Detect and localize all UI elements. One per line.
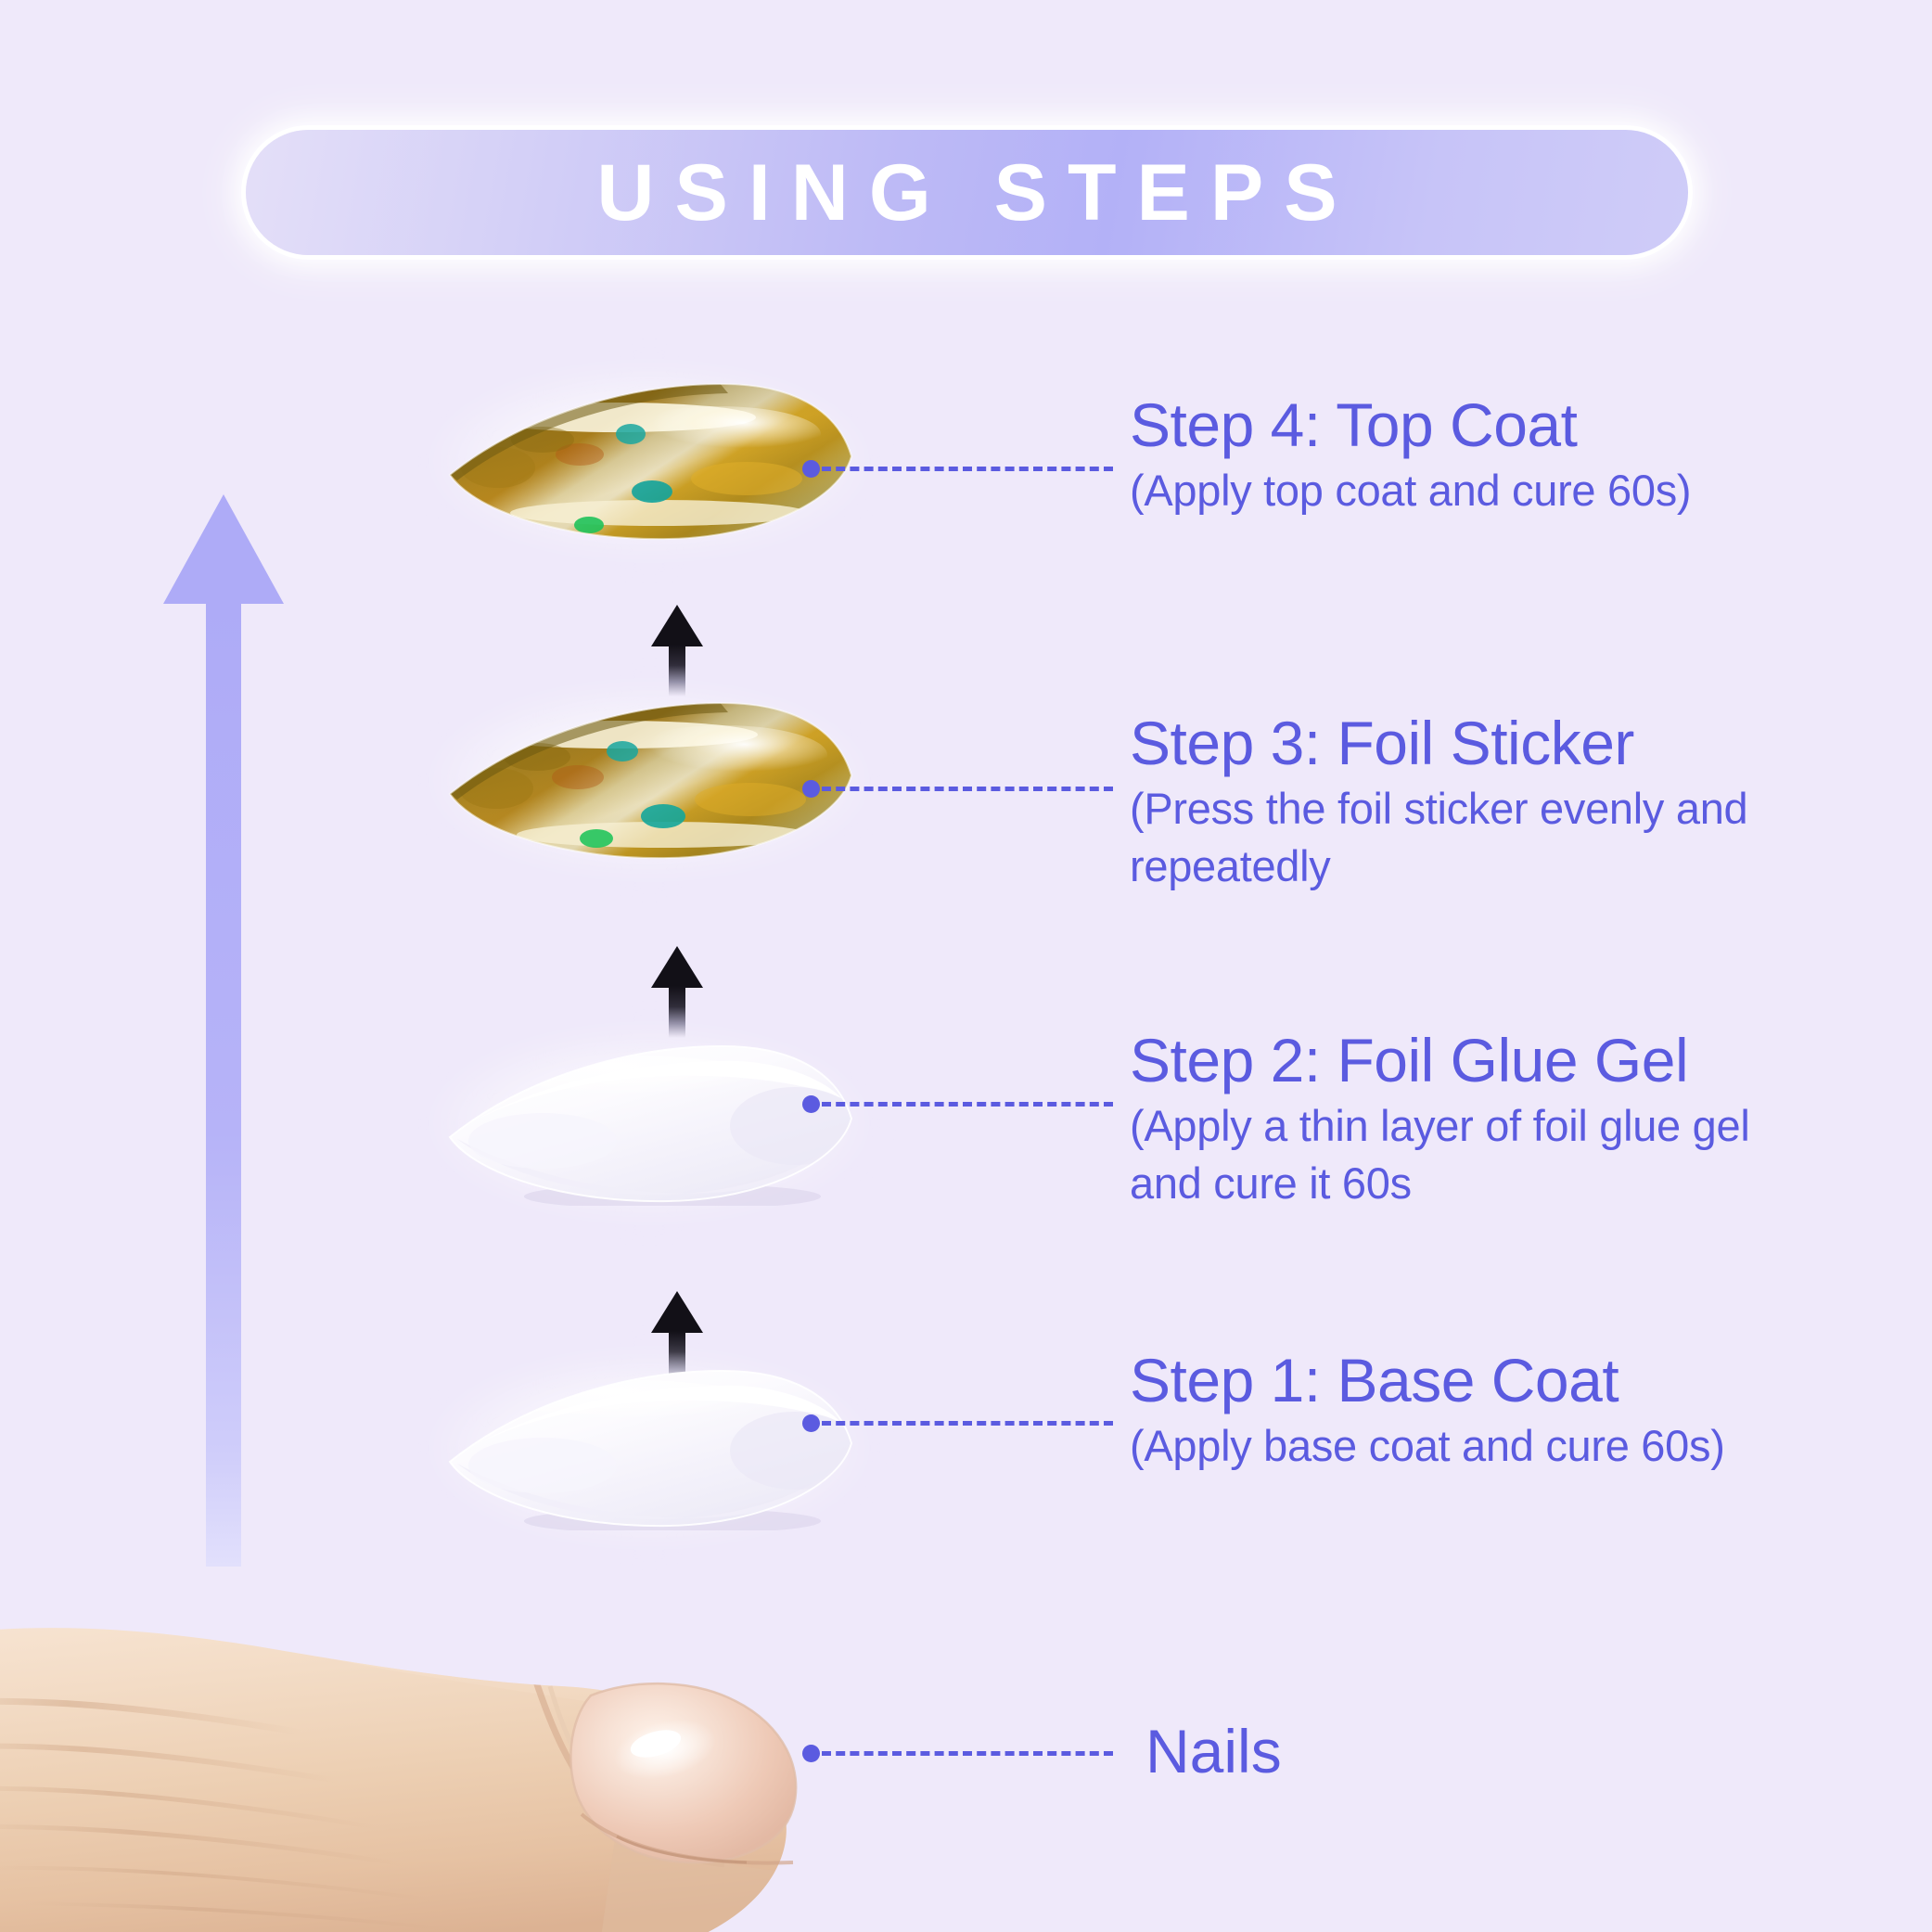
up-arrow-shaft — [206, 602, 241, 1567]
step-3-description-line-1: (Press the foil sticker evenly and — [1130, 781, 1835, 837]
leader-line-step-1 — [802, 1416, 1113, 1429]
gold-foil-nail-icon — [441, 697, 858, 863]
leader-dot-icon — [802, 1095, 820, 1113]
leader-dash — [822, 1421, 1113, 1426]
leader-dash — [822, 1102, 1113, 1107]
step-4-title: Step 4: Top Coat — [1130, 394, 1872, 455]
process-arrow-head — [651, 1291, 703, 1333]
step-block-3: Step 3: Foil Sticker (Press the foil sti… — [1130, 712, 1835, 894]
step-3-title: Step 3: Foil Sticker — [1130, 712, 1835, 774]
leader-dot-icon — [802, 1745, 820, 1762]
nail-visual-step-2 — [441, 1041, 858, 1206]
step-2-description-line-2: and cure it 60s — [1130, 1156, 1835, 1211]
step-block-2: Step 2: Foil Glue Gel (Apply a thin laye… — [1130, 1030, 1835, 1211]
up-arrow-head — [163, 494, 284, 604]
leader-dot-icon — [802, 460, 820, 478]
clear-gel-nail-icon — [441, 1365, 858, 1530]
nails-label: Nails — [1145, 1721, 1282, 1782]
up-arrow-icon — [163, 494, 284, 1566]
finger-photo — [0, 1593, 858, 1932]
step-block-1: Step 1: Base Coat (Apply base coat and c… — [1130, 1350, 1872, 1474]
step-2-description-line-1: (Apply a thin layer of foil glue gel — [1130, 1098, 1835, 1154]
process-arrow-head — [651, 946, 703, 988]
step-block-4: Step 4: Top Coat (Apply top coat and cur… — [1130, 394, 1872, 518]
step-1-title: Step 1: Base Coat — [1130, 1350, 1872, 1411]
nail-visual-step-3 — [441, 697, 858, 863]
leader-line-nails — [802, 1746, 1113, 1759]
step-1-description: (Apply base coat and cure 60s) — [1130, 1418, 1872, 1474]
leader-line-step-4 — [802, 462, 1113, 475]
nail-visual-step-4 — [441, 378, 858, 544]
leader-dot-icon — [802, 780, 820, 798]
leader-dash — [822, 467, 1113, 471]
gold-foil-nail-icon — [441, 378, 858, 544]
leader-dash — [822, 787, 1113, 791]
nail-visual-step-1 — [441, 1365, 858, 1530]
process-up-arrow-icon-2 — [651, 946, 703, 1037]
clear-gel-nail-icon — [441, 1041, 858, 1206]
step-3-description-line-2: repeatedly — [1130, 838, 1835, 894]
step-4-description: (Apply top coat and cure 60s) — [1130, 463, 1872, 518]
infographic-page: USING STEPS — [0, 0, 1932, 1932]
leader-dot-icon — [802, 1414, 820, 1432]
finger-illustration — [0, 1593, 858, 1932]
step-2-title: Step 2: Foil Glue Gel — [1130, 1030, 1835, 1091]
process-up-arrow-icon-3 — [651, 605, 703, 696]
leader-line-step-3 — [802, 782, 1113, 795]
header-banner: USING STEPS — [246, 130, 1688, 255]
leader-dash — [822, 1751, 1113, 1756]
leader-line-step-2 — [802, 1097, 1113, 1110]
page-title: USING STEPS — [246, 130, 1688, 255]
process-arrow-head — [651, 605, 703, 646]
